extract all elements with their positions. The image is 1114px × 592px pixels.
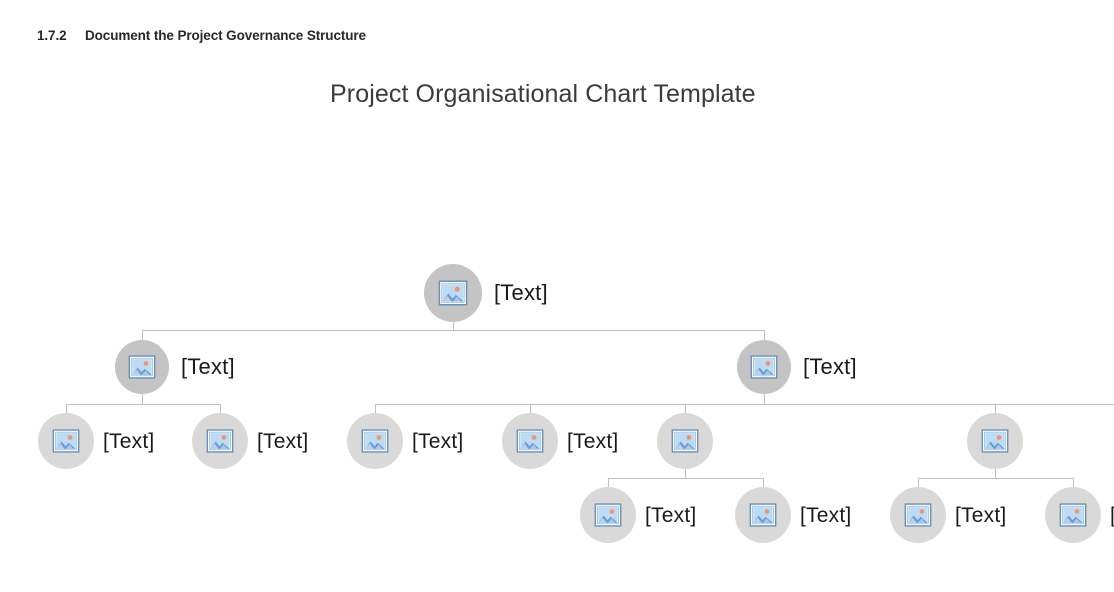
org-node[interactable]: [Text]: [192, 413, 308, 469]
org-node-avatar[interactable]: [115, 340, 169, 394]
org-node-avatar[interactable]: [192, 413, 248, 469]
org-node[interactable]: [Text]: [424, 264, 548, 322]
picture-placeholder-icon: [749, 501, 777, 529]
org-node-label[interactable]: [Text]: [955, 505, 1006, 526]
picture-placeholder-icon: [904, 501, 932, 529]
org-node[interactable]: [657, 413, 713, 469]
org-node-avatar[interactable]: [890, 487, 946, 543]
org-node-avatar[interactable]: [424, 264, 482, 322]
picture-placeholder-icon: [594, 501, 622, 529]
org-node-label[interactable]: [Text]: [412, 431, 463, 452]
org-node-label[interactable]: [Text]: [494, 282, 548, 304]
org-node-label[interactable]: [Text]: [257, 431, 308, 452]
picture-placeholder-icon: [1059, 501, 1087, 529]
org-node[interactable]: [Text]: [115, 340, 235, 394]
org-node-label[interactable]: [: [1110, 505, 1114, 526]
picture-placeholder-icon: [52, 427, 80, 455]
org-node-avatar[interactable]: [737, 340, 791, 394]
picture-placeholder-icon: [750, 353, 778, 381]
org-node-avatar[interactable]: [735, 487, 791, 543]
org-node-avatar[interactable]: [347, 413, 403, 469]
org-node-avatar[interactable]: [502, 413, 558, 469]
picture-placeholder-icon: [438, 278, 468, 308]
org-node-avatar[interactable]: [38, 413, 94, 469]
org-node-label[interactable]: [Text]: [567, 431, 618, 452]
org-node-label[interactable]: [Text]: [181, 356, 235, 378]
org-node-label[interactable]: [Text]: [103, 431, 154, 452]
picture-placeholder-icon: [671, 427, 699, 455]
org-node[interactable]: [Text]: [735, 487, 851, 543]
org-node-avatar[interactable]: [580, 487, 636, 543]
org-node-avatar[interactable]: [1045, 487, 1101, 543]
org-node[interactable]: [Text]: [38, 413, 154, 469]
org-node-label[interactable]: [Text]: [645, 505, 696, 526]
picture-placeholder-icon: [981, 427, 1009, 455]
org-node[interactable]: [Text]: [580, 487, 696, 543]
org-node[interactable]: [967, 413, 1023, 469]
picture-placeholder-icon: [361, 427, 389, 455]
picture-placeholder-icon: [516, 427, 544, 455]
org-node-avatar[interactable]: [967, 413, 1023, 469]
org-node-avatar[interactable]: [657, 413, 713, 469]
org-node-label[interactable]: [Text]: [803, 356, 857, 378]
organisational-chart: [Text][Text][Text][Text][Text][Text][Tex…: [0, 0, 1114, 592]
org-node[interactable]: [Text]: [737, 340, 857, 394]
picture-placeholder-icon: [128, 353, 156, 381]
org-node-label[interactable]: [Text]: [800, 505, 851, 526]
org-node[interactable]: [Text]: [347, 413, 463, 469]
org-node[interactable]: [Text]: [890, 487, 1006, 543]
org-node[interactable]: [: [1045, 487, 1114, 543]
picture-placeholder-icon: [206, 427, 234, 455]
org-node[interactable]: [Text]: [502, 413, 618, 469]
